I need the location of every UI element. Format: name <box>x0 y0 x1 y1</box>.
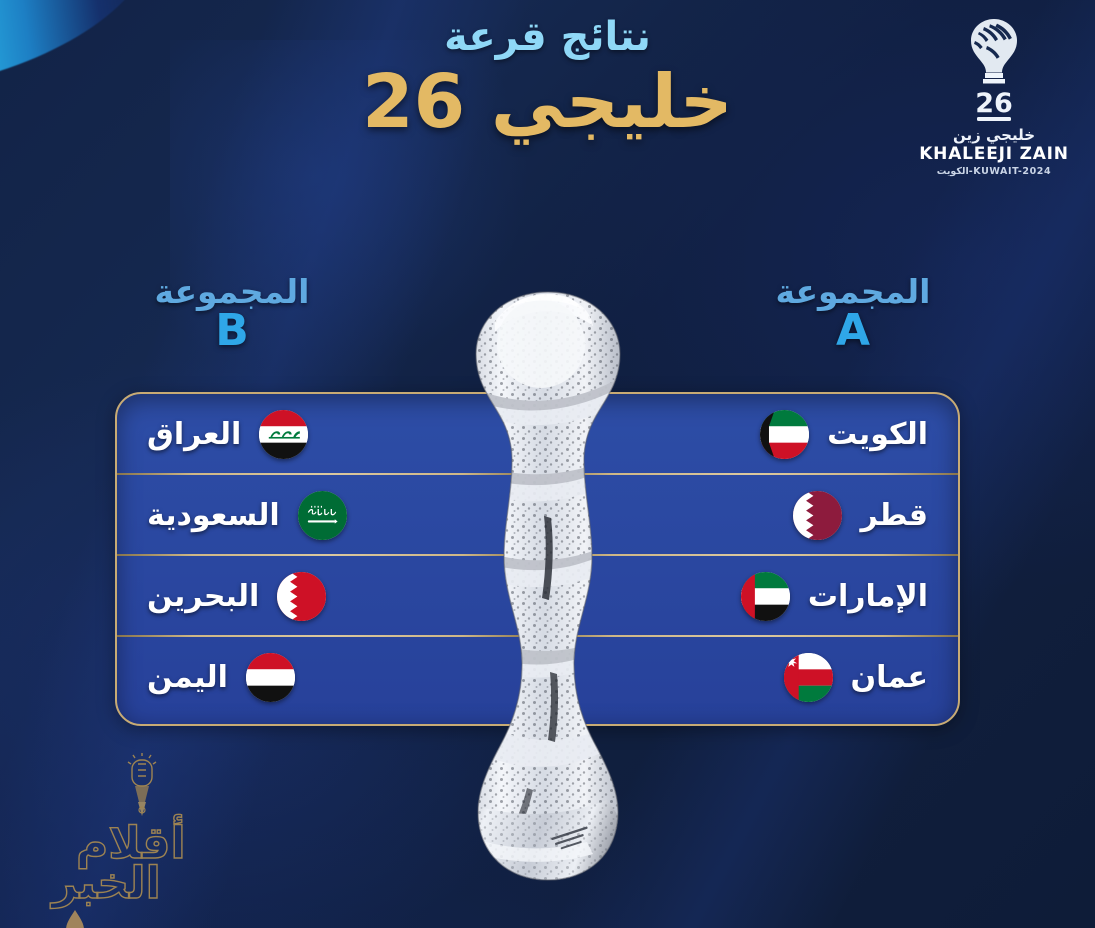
watermark-line-1: أقلام <box>76 818 186 869</box>
group-b-column: العراق السعو <box>117 394 538 724</box>
header: نتائج قرعة خليجي 26 26 خليجي زين <box>0 0 1095 210</box>
team-name: العراق <box>147 417 241 452</box>
iraq-flag-icon <box>259 410 308 459</box>
table-row: عمان <box>538 637 959 718</box>
team-name: السعودية <box>147 498 280 533</box>
table-row: اليمن <box>117 637 538 718</box>
bahrain-flag-icon <box>277 572 326 621</box>
team-name: اليمن <box>147 660 228 695</box>
watermark-line-2: الخبر <box>52 858 161 909</box>
group-b-letter: B <box>82 308 382 354</box>
svg-text:26: 26 <box>975 88 1013 119</box>
group-a-heading: المجموعة A <box>703 274 1003 354</box>
table-row: البحرين <box>117 556 538 637</box>
table-row: العراق <box>117 394 538 475</box>
logo-english-name: KHALEEJI ZAIN <box>919 144 1069 164</box>
group-a-column: الكويت قطر <box>538 394 959 724</box>
trophy-26-icon: 26 <box>957 16 1031 124</box>
saudi-arabia-flag-icon <box>298 491 347 540</box>
logo-arabic-name: خليجي زين <box>953 126 1035 144</box>
group-b-heading: المجموعة B <box>82 274 382 354</box>
pen-nib-icon <box>124 752 160 822</box>
team-name: الكويت <box>827 417 928 452</box>
qatar-flag-icon <box>793 491 842 540</box>
draw-results-graphic: نتائج قرعة خليجي 26 26 خليجي زين <box>0 0 1095 928</box>
team-name: الإمارات <box>808 579 928 614</box>
team-name: عمان <box>851 660 928 695</box>
table-row: قطر <box>538 475 959 556</box>
tournament-logo: 26 خليجي زين KHALEEJI ZAIN KUWAIT-2024-ا… <box>919 16 1069 186</box>
table-row: السعودية <box>117 475 538 556</box>
team-name: قطر <box>860 498 928 533</box>
site-watermark: أقلام الخبر <box>42 752 222 912</box>
yemen-flag-icon <box>246 653 295 702</box>
uae-flag-icon <box>741 572 790 621</box>
logo-subtitle: KUWAIT-2024-الكويت <box>937 166 1051 177</box>
oman-flag-icon <box>784 653 833 702</box>
table-row: الكويت <box>538 394 959 475</box>
flame-icon <box>62 908 88 928</box>
groups-card: العراق السعو <box>115 392 960 726</box>
kuwait-flag-icon <box>760 410 809 459</box>
table-row: الإمارات <box>538 556 959 637</box>
group-a-letter: A <box>703 308 1003 354</box>
team-name: البحرين <box>147 579 259 614</box>
